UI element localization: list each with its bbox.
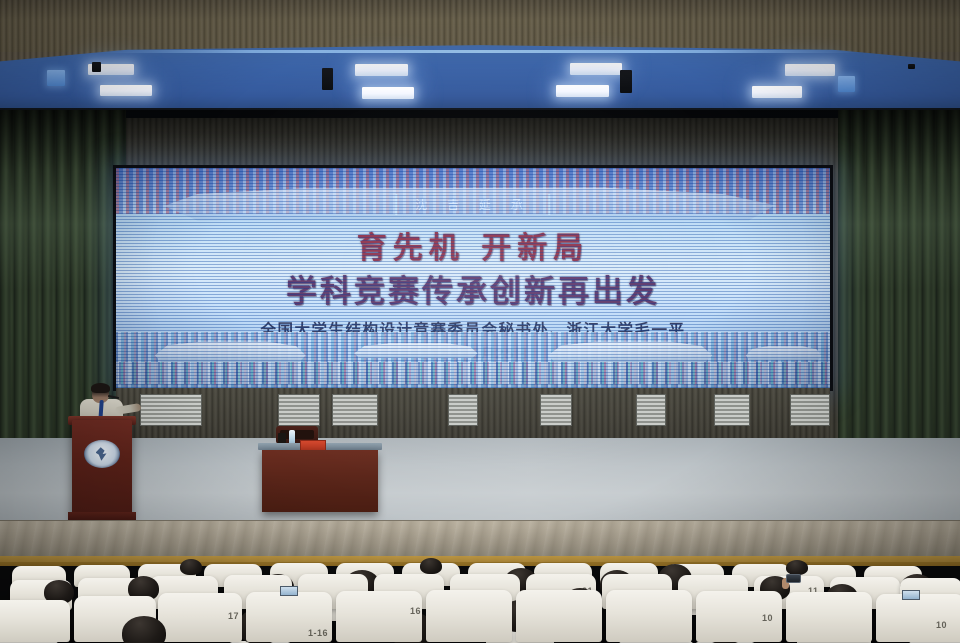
ceiling-light-9 xyxy=(556,85,609,97)
audience-seat[interactable] xyxy=(0,600,70,642)
wall-vent-5 xyxy=(540,394,572,426)
audience-seat[interactable] xyxy=(606,590,692,642)
podium xyxy=(72,420,132,520)
presenter-table xyxy=(262,450,378,512)
ceiling-light-8 xyxy=(570,63,622,75)
audience-area: 2111171-16161010 xyxy=(0,556,960,643)
stage-curtain-right xyxy=(838,110,960,480)
ceiling-light-10 xyxy=(620,70,632,93)
seat-number-label: 17 xyxy=(228,611,239,621)
university-emblem-icon xyxy=(84,440,120,468)
led-glitch-band xyxy=(116,362,830,384)
audience-seat[interactable] xyxy=(426,590,512,642)
seat-number-label: 10 xyxy=(936,620,947,630)
ceiling-light-6 xyxy=(362,87,414,99)
smartphone-icon xyxy=(786,574,801,583)
led-header-text: 沈 吉 延 承 xyxy=(395,194,550,215)
presenter-hair xyxy=(91,383,110,393)
ceiling-light-14 xyxy=(908,64,915,69)
ceiling-light-3 xyxy=(47,70,65,86)
wall-vent-2 xyxy=(278,394,320,426)
seat-number-label: 10 xyxy=(762,613,773,623)
ceiling-light-11 xyxy=(785,64,835,76)
audience-seat[interactable] xyxy=(516,590,602,642)
led-title-line-1: 育先机 开新局 xyxy=(116,223,830,267)
ceiling-light-5 xyxy=(355,64,408,76)
audience-member-head xyxy=(786,560,808,575)
audience-member-head xyxy=(180,559,202,575)
soffit-edge-highlight xyxy=(100,50,860,53)
ceiling-light-4 xyxy=(92,62,101,72)
seat-number-label: 1-16 xyxy=(308,628,328,638)
audience-member-head xyxy=(122,616,166,643)
audience-seat[interactable] xyxy=(876,594,960,642)
wall-vent-1 xyxy=(140,394,202,426)
seat-number-label: 16 xyxy=(410,606,421,616)
led-title-line-2: 学科竞赛传承创新再出发 xyxy=(116,266,830,311)
led-video-wall[interactable]: 沈 吉 延 承 育先机 开新局 学科竞赛传承创新再出发 全国大学生结构设计竞赛委… xyxy=(116,168,830,388)
wall-vent-8 xyxy=(790,394,830,426)
ceiling-wood-panel xyxy=(0,0,960,52)
laptop-screen xyxy=(280,586,298,596)
wall-vent-4 xyxy=(448,394,478,426)
ceiling-light-12 xyxy=(752,86,802,98)
wall-vent-7 xyxy=(714,394,750,426)
auditorium-photo: 沈 吉 延 承 育先机 开新局 学科竞赛传承创新再出发 全国大学生结构设计竞赛委… xyxy=(0,0,960,643)
audience-member-head xyxy=(420,558,442,574)
wall-vent-3 xyxy=(332,394,378,426)
laptop-screen xyxy=(902,590,920,600)
ceiling-light-7 xyxy=(322,68,333,90)
audience-seat[interactable] xyxy=(786,592,872,642)
wall-vent-6 xyxy=(636,394,666,426)
audience-seat[interactable] xyxy=(336,591,422,642)
ceiling-light-13 xyxy=(838,76,855,92)
stage-floor xyxy=(0,438,960,530)
ceiling-light-2 xyxy=(100,85,152,96)
